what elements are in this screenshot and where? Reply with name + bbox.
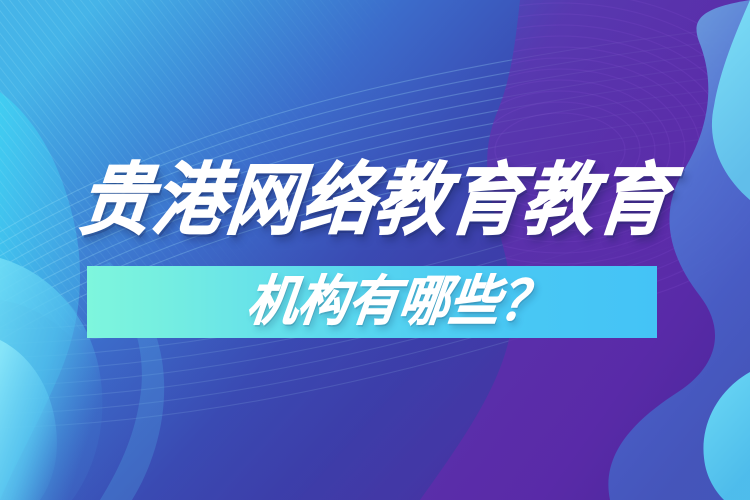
- subtitle-container: 机构有哪些？: [87, 266, 657, 338]
- promo-banner: 贵港网络教育教育 机构有哪些？: [0, 0, 750, 500]
- headline-container: 贵港网络教育教育: [0, 148, 750, 252]
- page-subtitle: 机构有哪些？: [245, 275, 554, 329]
- page-title: 贵港网络教育教育: [69, 161, 680, 239]
